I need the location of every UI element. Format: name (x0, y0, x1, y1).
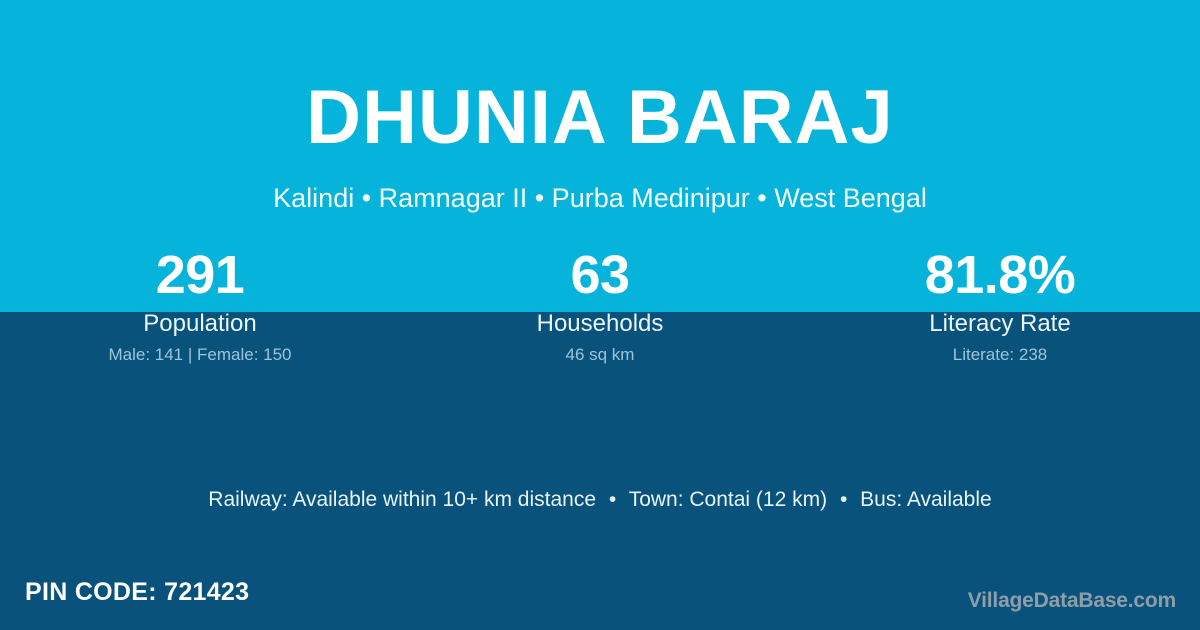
page-title: DHUNIA BARAJ (0, 80, 1200, 156)
village-data-card: DHUNIA BARAJ Kalindi • Ramnagar II • Pur… (0, 0, 1200, 630)
site-watermark: VillageDataBase.com (968, 588, 1176, 614)
amenity-separator-2: • (833, 488, 854, 511)
amenity-railway: Railway: Available within 10+ km distanc… (208, 488, 596, 511)
breadcrumb: Kalindi • Ramnagar II • Purba Medinipur … (0, 182, 1200, 214)
amenity-town: Town: Contai (12 km) (629, 488, 827, 511)
amenity-bus: Bus: Available (860, 488, 992, 511)
stat-sub-households: 46 sq km (400, 343, 800, 367)
stat-block-population: 291 Population Male: 141 | Female: 150 (0, 246, 400, 367)
stat-sub-population: Male: 141 | Female: 150 (0, 343, 400, 367)
stat-label-households: Households (400, 308, 800, 340)
stat-block-literacy-rate: 81.8% Literacy Rate Literate: 238 (800, 246, 1200, 367)
stat-sub-literacy-rate: Literate: 238 (800, 343, 1200, 367)
stat-value-literacy-rate: 81.8% (800, 246, 1200, 304)
stats-row: 291 Population Male: 141 | Female: 150 6… (0, 246, 1200, 367)
stat-value-population: 291 (0, 246, 400, 304)
amenity-separator-1: • (602, 488, 623, 511)
stat-label-population: Population (0, 308, 400, 340)
stat-block-households: 63 Households 46 sq km (400, 246, 800, 367)
stat-label-literacy-rate: Literacy Rate (800, 308, 1200, 340)
amenities-line: Railway: Available within 10+ km distanc… (0, 487, 1200, 513)
stat-value-households: 63 (400, 246, 800, 304)
pin-code-label: PIN CODE: 721423 (25, 577, 249, 607)
